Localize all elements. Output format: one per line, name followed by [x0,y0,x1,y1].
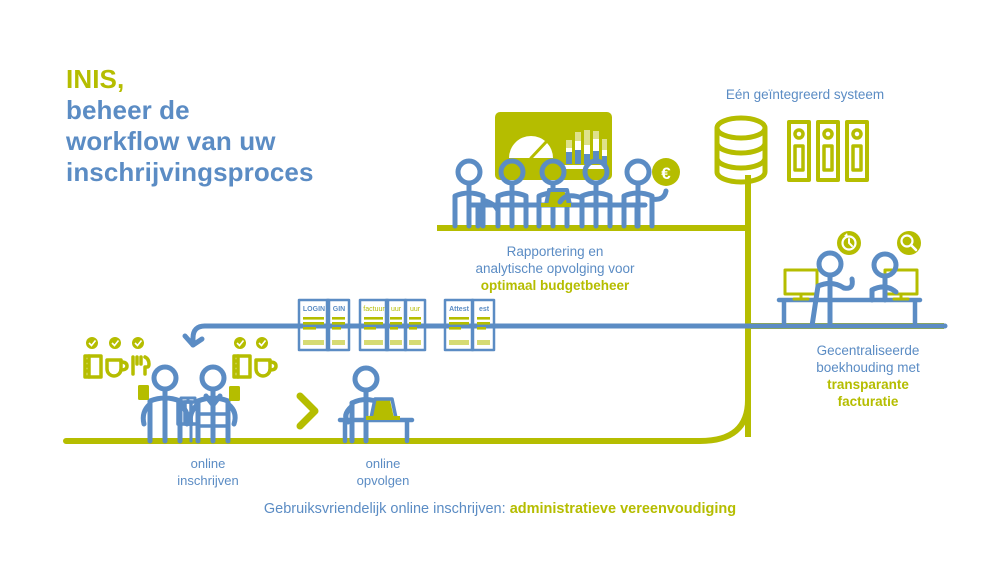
headline-line-1: INIS, [66,64,124,94]
svg-text:factuur: factuur [363,306,385,313]
page-title: INIS, beheer de workflow van uw inschrij… [66,64,426,188]
binder-icon-group [789,122,867,180]
scene-office-right [779,231,921,326]
amenity-icons-left [85,337,149,377]
scene-online-opvolgen [340,368,412,441]
footer-tagline: Gebruiksvriendelijk online inschrijven: … [0,501,1000,517]
label-online-opvolgen: online opvolgen [318,456,448,489]
svg-text:€: € [661,164,671,183]
label-inschrijven-line-1: online [191,456,226,471]
footer-highlight-text: administratieve vereenvoudiging [510,501,736,517]
magnifier-icon [897,231,921,255]
label-opvolgen-line-2: opvolgen [357,473,410,488]
chevron-arrow-icon [300,396,315,426]
caption-central-line-1: Gecentraliseerde [817,343,920,358]
office-worker-1 [812,253,852,326]
caption-integrated-system: Eén geïntegreerd systeem [690,86,920,103]
headline-line-4: inschrijvingsproces [66,157,314,187]
caption-report-line-2: analytische opvolging voor [475,261,634,276]
headline-line-3: workflow van uw [66,126,276,156]
caption-system-text: Eén geïntegreerd systeem [726,87,884,102]
svg-text:GIN: GIN [333,306,345,313]
svg-text:LOGIN: LOGIN [303,306,325,313]
footer-plain-text: Gebruiksvriendelijk online inschrijven: [264,501,510,517]
caption-central-highlight-1: transparante [827,377,909,392]
caption-reporting: Rapportering en analytische opvolging vo… [435,243,675,294]
clock-icon [837,231,861,255]
infographic-canvas: .bl{stroke:#5b8cc4;fill:none;stroke-widt… [0,0,1000,563]
scene-online-inschrijven [85,337,276,441]
caption-central-highlight-2: facturatie [838,394,899,409]
dashboard-screen [495,112,612,180]
label-inschrijven-line-2: inschrijven [177,473,238,488]
svg-text:uur: uur [410,306,421,313]
svg-text:Attest: Attest [449,306,470,313]
caption-centralized-accounting: Gecentraliseerde boekhouding met transpa… [768,342,968,410]
person-inschrijven-1 [138,367,198,441]
euro-coin-icon: € [652,158,680,186]
monitor-left-icon [785,270,817,299]
label-online-inschrijven: online inschrijven [128,456,288,489]
headline-line-2: beheer de [66,95,190,125]
caption-central-line-2: boekhouding met [816,360,920,375]
label-opvolgen-line-1: online [366,456,401,471]
meeting-scene: € [455,112,680,226]
svg-text:est: est [479,306,490,313]
svg-text:uur: uur [391,306,402,313]
amenity-icons-right [234,337,276,377]
database-icon [717,118,765,182]
caption-report-highlight: optimaal budgetbeheer [481,278,630,293]
person-inschrijven-2 [178,367,240,441]
caption-report-line-1: Rapportering en [507,244,604,259]
